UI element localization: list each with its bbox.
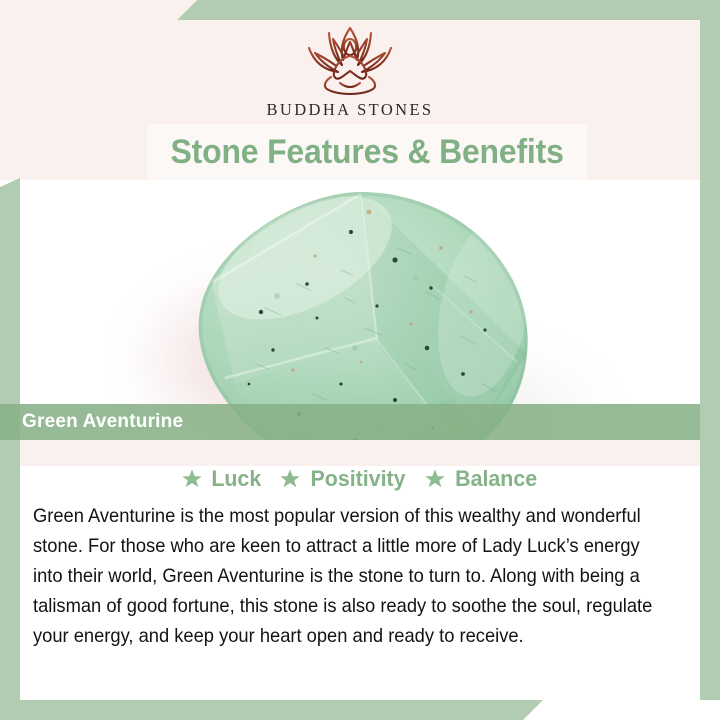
stone-description: Green Aventurine is the most popular ver… (33, 502, 663, 652)
star-icon (424, 468, 446, 490)
frame-accent-left (0, 178, 20, 720)
brand-wordmark: BUDDHA STONES (266, 100, 433, 120)
benefits-row: Luck Positivity Balance (20, 466, 700, 492)
star-icon (279, 468, 301, 490)
stone-features-infographic: BUDDHA STONES Stone Features & Benefits (0, 0, 720, 720)
page-title-band: Stone Features & Benefits (147, 124, 587, 180)
lotus-meditation-icon (288, 22, 412, 96)
frame-accent-bottom (0, 700, 720, 720)
benefit-item-balance: Balance (424, 466, 539, 492)
benefit-label: Positivity (310, 466, 405, 492)
benefit-label: Balance (455, 466, 537, 492)
frame-accent-right (700, 0, 720, 700)
product-label: Green Aventurine (22, 411, 183, 433)
page-title: Stone Features & Benefits (170, 133, 563, 172)
product-label-band: Green Aventurine (0, 404, 700, 440)
benefit-item-positivity: Positivity (279, 466, 408, 492)
frame-notch-top-left (0, 0, 200, 20)
brand-logo: BUDDHA STONES (0, 22, 700, 120)
benefit-item-luck: Luck (181, 466, 263, 492)
star-icon (181, 468, 203, 490)
divider-strip (20, 440, 700, 466)
benefit-label: Luck (211, 466, 261, 492)
